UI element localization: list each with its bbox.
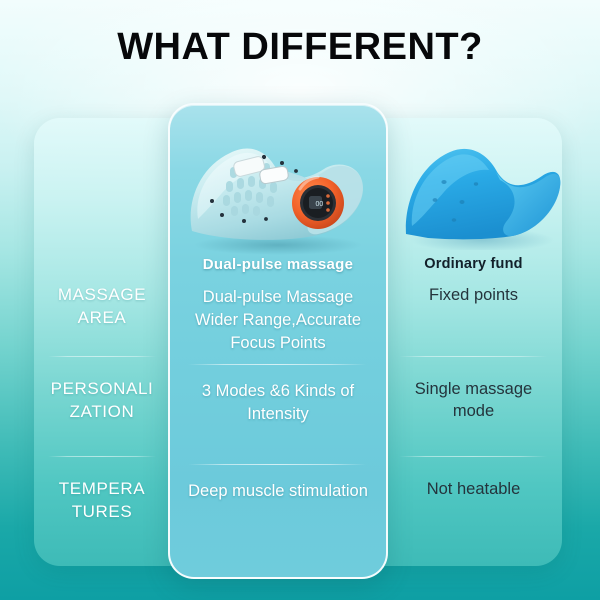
center-cell-personalization: 3 Modes &6 Kinds of Intensity	[170, 380, 386, 426]
right-column-heading: Ordinary fund	[385, 255, 562, 275]
left-label-personalization: PERSONALI ZATION	[34, 378, 170, 424]
infographic-root: WHAT DIFFERENT? MASSAGE AREA PERSONALI Z…	[0, 0, 600, 600]
center-divider-2	[188, 464, 366, 465]
center-cell-line2: Wider Range,Accurate	[170, 309, 386, 332]
left-label-line2: AREA	[34, 307, 170, 330]
right-divider-1	[399, 356, 547, 357]
dual-pulse-massager-image: 00	[178, 123, 378, 255]
left-label-line2: TURES	[34, 501, 170, 524]
center-cell-line1: Deep muscle stimulation	[188, 482, 368, 500]
svg-text:00: 00	[316, 201, 324, 208]
left-label-temperatures: TEMPERA TURES	[34, 478, 170, 524]
right-cell-personalization: Single massage mode	[385, 378, 562, 423]
right-cell-line2: mode	[385, 400, 562, 422]
left-label-column: MASSAGE AREA PERSONALI ZATION TEMPERA TU…	[34, 118, 170, 566]
right-cell-massage-area: Fixed points	[385, 284, 562, 306]
right-cell-line1: Not heatable	[427, 480, 521, 498]
center-cell-massage-area: Dual-pulse Massage Wider Range,Accurate …	[170, 286, 386, 354]
left-label-line1: PERSONALI	[51, 379, 154, 398]
page-title: WHAT DIFFERENT?	[0, 26, 600, 69]
center-divider-1	[188, 364, 366, 365]
left-label-line1: TEMPERA	[59, 479, 145, 498]
left-divider-2	[48, 456, 156, 457]
left-divider-1	[48, 356, 156, 357]
center-cell-line3: Focus Points	[170, 332, 386, 355]
right-cell-line1: Single massage	[415, 380, 532, 398]
center-cell-line2: Intensity	[170, 403, 386, 426]
center-column-heading: Dual-pulse massage	[170, 255, 386, 275]
ordinary-neck-stretcher-icon	[396, 128, 568, 250]
ordinary-neck-stretcher-image	[396, 128, 568, 250]
left-label-massage-area: MASSAGE AREA	[34, 284, 170, 330]
center-cell-temperatures: Deep muscle stimulation	[170, 480, 386, 503]
right-cell-temperatures: Not heatable	[385, 478, 562, 500]
left-label-line1: MASSAGE	[58, 285, 146, 304]
center-highlight-panel: 00 Dual-pulse massage Dual-pulse Massage…	[168, 103, 388, 579]
center-cell-line1: 3 Modes &6 Kinds of	[202, 382, 354, 400]
right-divider-2	[399, 456, 547, 457]
right-cell-line1: Fixed points	[429, 286, 518, 304]
center-cell-line1: Dual-pulse Massage	[203, 288, 353, 306]
left-label-line2: ZATION	[34, 401, 170, 424]
dual-pulse-massager-icon: 00	[178, 123, 378, 255]
